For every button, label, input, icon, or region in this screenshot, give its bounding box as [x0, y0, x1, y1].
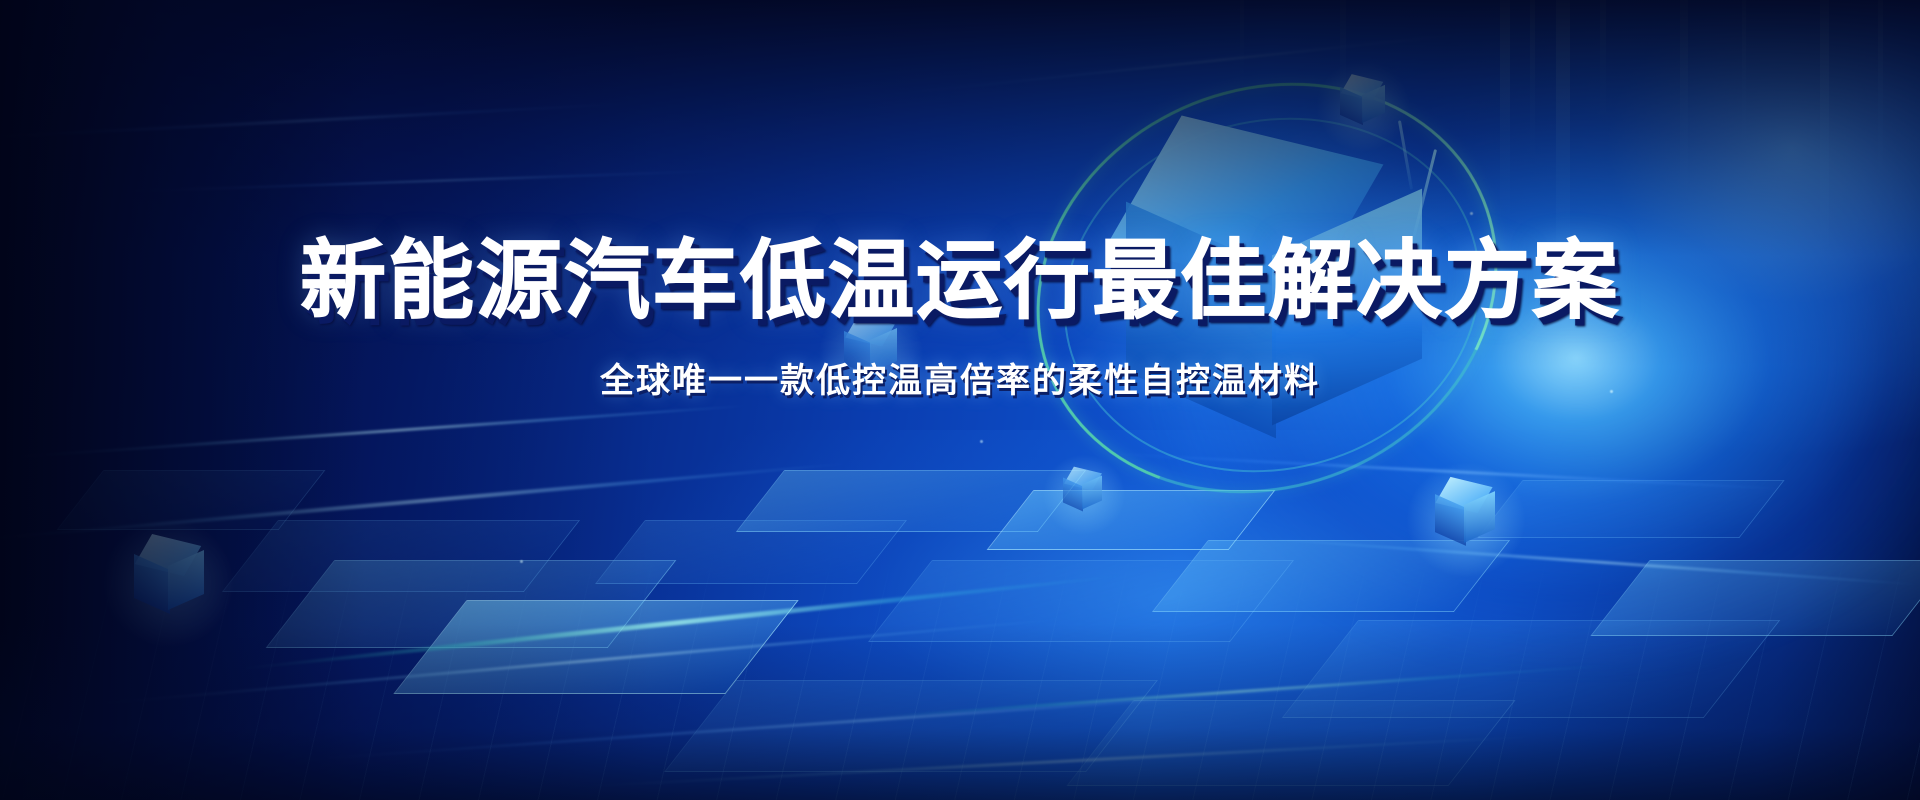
hero-text-block: 新能源汽车低温运行最佳解决方案 全球唯一一款低控温高倍率的柔性自控温材料: [0, 236, 1920, 402]
page-subtitle: 全球唯一一款低控温高倍率的柔性自控温材料: [0, 353, 1920, 402]
hero-banner: 新能源汽车低温运行最佳解决方案 全球唯一一款低控温高倍率的柔性自控温材料: [0, 0, 1920, 800]
page-title: 新能源汽车低温运行最佳解决方案: [0, 236, 1920, 327]
